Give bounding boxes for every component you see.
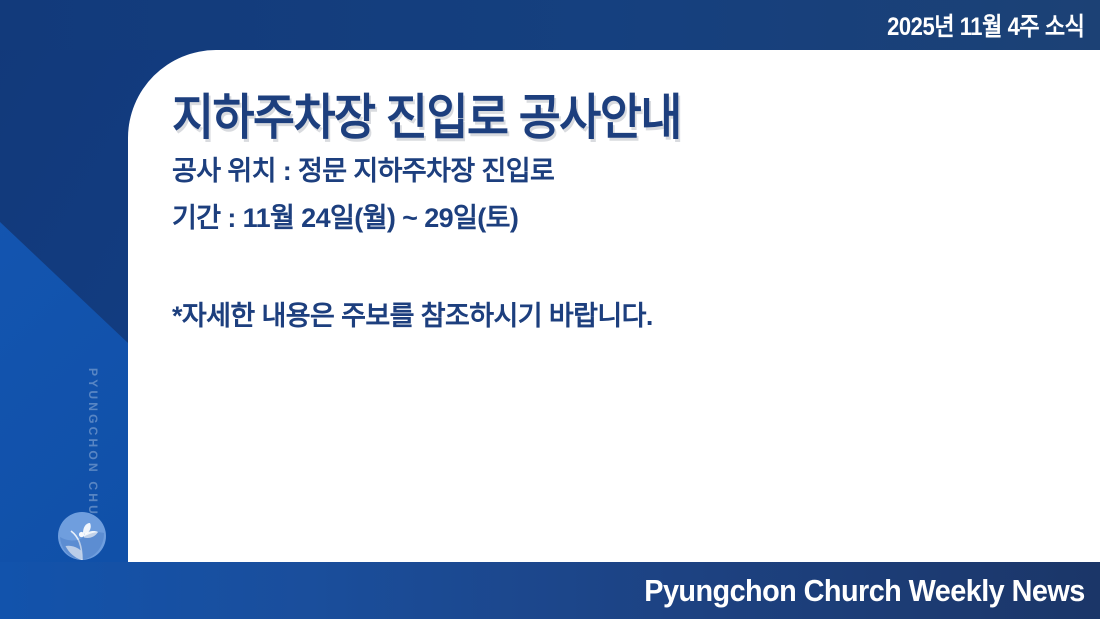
body-spacer	[172, 252, 1032, 294]
page-title: 지하주차장 진입로 공사안내	[172, 78, 681, 149]
content-card: 지하주차장 진입로 공사안내 공사 위치 : 정문 지하주차장 진입로 기간 :…	[128, 50, 1100, 562]
detail-line-location: 공사 위치 : 정문 지하주차장 진입로	[172, 158, 1032, 185]
detail-line-period: 기간 : 11월 24일(월) ~ 29일(토)	[172, 205, 1032, 232]
footer-band: Pyungchon Church Weekly News	[0, 562, 1100, 619]
issue-label: 2025년 11월 4주 소식	[887, 7, 1100, 43]
note-text: *자세한 내용은 주보를 참조하시기 바랍니다.	[172, 294, 1032, 333]
card-body: 공사 위치 : 정문 지하주차장 진입로 기간 : 11월 24일(월) ~ 2…	[172, 158, 1032, 333]
top-header-band: 2025년 11월 4주 소식	[0, 0, 1100, 50]
footer-title: Pyungchon Church Weekly News	[645, 573, 1100, 609]
weekly-news-slide: 2025년 11월 4주 소식 지하주차장 진입로 공사안내 공사 위치 : 정…	[0, 0, 1100, 619]
